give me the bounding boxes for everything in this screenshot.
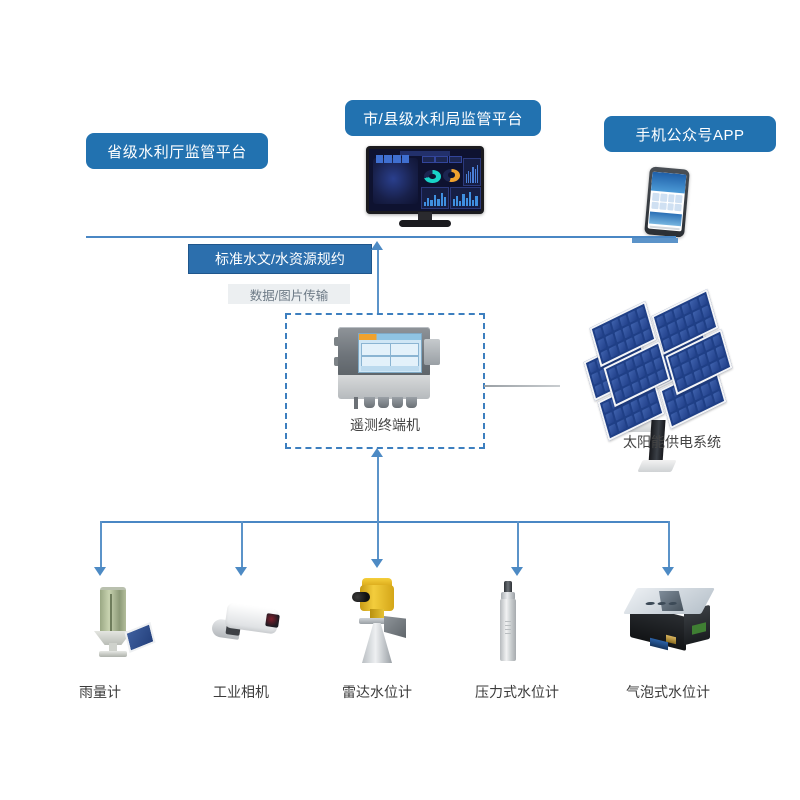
rtu-gland-2: [378, 397, 389, 408]
node-provincial-platform[interactable]: 省级水利厅监管平台: [86, 133, 268, 169]
rtu-display-divider: [390, 343, 391, 367]
sensor-drop-camera: [241, 521, 243, 569]
solar-caption: 太阳能供电系统: [592, 432, 752, 452]
sensor-arrow-bubble: [662, 567, 674, 576]
node-city-platform-label: 市/县级水利局监管平台: [363, 108, 523, 129]
sensor-caption-bubble: 气泡式水位计: [598, 682, 738, 702]
sensor-arrow-radar: [371, 559, 383, 568]
dashboard-bar-chart-left: [421, 187, 450, 209]
rtu-cable: [354, 397, 358, 409]
dashboard-chip-row: [376, 155, 410, 162]
rtu-gland-1: [364, 397, 375, 408]
protocol-label-box: 标准水文/水资源规约: [188, 244, 372, 274]
dashboard-side-bars: [463, 158, 481, 186]
node-mobile-app-label: 手机公众号APP: [635, 124, 744, 145]
sensor-arrow-camera: [235, 567, 247, 576]
rtu-display-header: [359, 334, 421, 340]
diagram-canvas: 省级水利厅监管平台 市/县级水利局监管平台 手机公众号APP: [0, 0, 800, 800]
arrow-sensors-to-rtu-head: [371, 448, 383, 457]
phone-app-icon-grid: [649, 191, 685, 214]
sensor-label-rain-gauge: 雨量计: [79, 684, 121, 700]
sensor-caption-rain-gauge: 雨量计: [30, 682, 170, 702]
solar-base-front: [637, 460, 676, 472]
arrow-sensors-to-rtu: [377, 455, 379, 523]
radar-bracket: [384, 616, 406, 638]
phone-illustration: [647, 168, 687, 236]
arrow-rtu-to-uplink-head: [371, 241, 383, 250]
monitor-bezel: [366, 146, 484, 214]
uplink-bus-line: [86, 236, 676, 238]
rtu-gland-3: [392, 397, 403, 408]
dashboard-kpi-3: [449, 156, 462, 163]
phone-base-bar: [632, 238, 678, 243]
pressure-level-gauge-illustration: [497, 581, 519, 661]
rain-gauge-cylinder: [100, 587, 126, 636]
arrow-rtu-to-uplink: [377, 247, 379, 313]
sensor-bus-line: [100, 521, 670, 523]
rain-gauge-illustration: [86, 587, 152, 659]
rain-gauge-base: [99, 651, 127, 657]
sensor-caption-pressure: 压力式水位计: [447, 682, 587, 702]
dashboard-bar-chart-right: [450, 187, 481, 209]
rain-gauge-solar-panel: [124, 622, 155, 653]
sensor-drop-bubble: [668, 521, 670, 569]
transmission-note: 数据/图片传输: [228, 284, 350, 304]
sensor-label-bubble: 气泡式水位计: [626, 684, 710, 700]
bubble-level-gauge-illustration: [624, 588, 716, 650]
industrial-camera-illustration: [212, 604, 282, 648]
radar-level-gauge-illustration: [348, 578, 410, 664]
sensor-drop-pressure: [517, 521, 519, 569]
radar-connector-eyes: [352, 592, 370, 602]
sensor-drop-rain-gauge: [100, 521, 102, 569]
node-mobile-app[interactable]: 手机公众号APP: [604, 116, 776, 152]
solar-caption-text: 太阳能供电系统: [623, 434, 721, 450]
node-provincial-platform-label: 省级水利厅监管平台: [107, 141, 247, 162]
pressure-probe-body: [500, 599, 516, 661]
monitor-illustration: [366, 146, 484, 230]
sensor-label-pressure: 压力式水位计: [475, 684, 559, 700]
dashboard-kpi-1: [422, 156, 435, 163]
sensor-arrow-pressure: [511, 567, 523, 576]
monitor-screen: [369, 149, 481, 211]
rtu-enclosure-upper: [338, 327, 430, 377]
sensor-caption-radar: 雷达水位计: [307, 682, 447, 702]
camera-lens: [265, 613, 280, 628]
protocol-label-text: 标准水文/水资源规约: [215, 249, 345, 269]
sensor-label-radar: 雷达水位计: [342, 684, 412, 700]
dashboard-map: [373, 158, 418, 204]
rtu-antenna-rod: [484, 385, 560, 387]
monitor-stand-foot: [399, 220, 451, 227]
bubble-case-top: [623, 588, 715, 614]
sensor-label-camera: 工业相机: [213, 684, 269, 700]
rtu-enclosure-lower: [338, 375, 430, 399]
solar-array-front: [660, 330, 800, 480]
dashboard-donut-2: [443, 169, 460, 182]
bubble-indicator-lights: [645, 602, 678, 606]
sensor-arrow-rain-gauge: [94, 567, 106, 576]
dashboard-kpi-2: [435, 156, 448, 163]
rtu-display: [358, 333, 422, 373]
rtu-display-footer: [361, 366, 419, 371]
node-city-platform[interactable]: 市/县级水利局监管平台: [345, 100, 541, 136]
sensor-drop-radar: [377, 521, 379, 561]
sensor-caption-camera: 工业相机: [171, 682, 311, 702]
rtu-caption: 遥测终端机: [285, 415, 485, 435]
rtu-device-illustration: [334, 327, 440, 407]
transmission-note-text: 数据/图片传输: [250, 285, 328, 304]
rtu-caption-text: 遥测终端机: [350, 417, 420, 433]
rtu-side-connector-panel: [424, 339, 440, 365]
phone-screen: [648, 172, 687, 232]
dashboard-donut-1: [424, 170, 441, 183]
rtu-gland-4: [406, 397, 417, 408]
